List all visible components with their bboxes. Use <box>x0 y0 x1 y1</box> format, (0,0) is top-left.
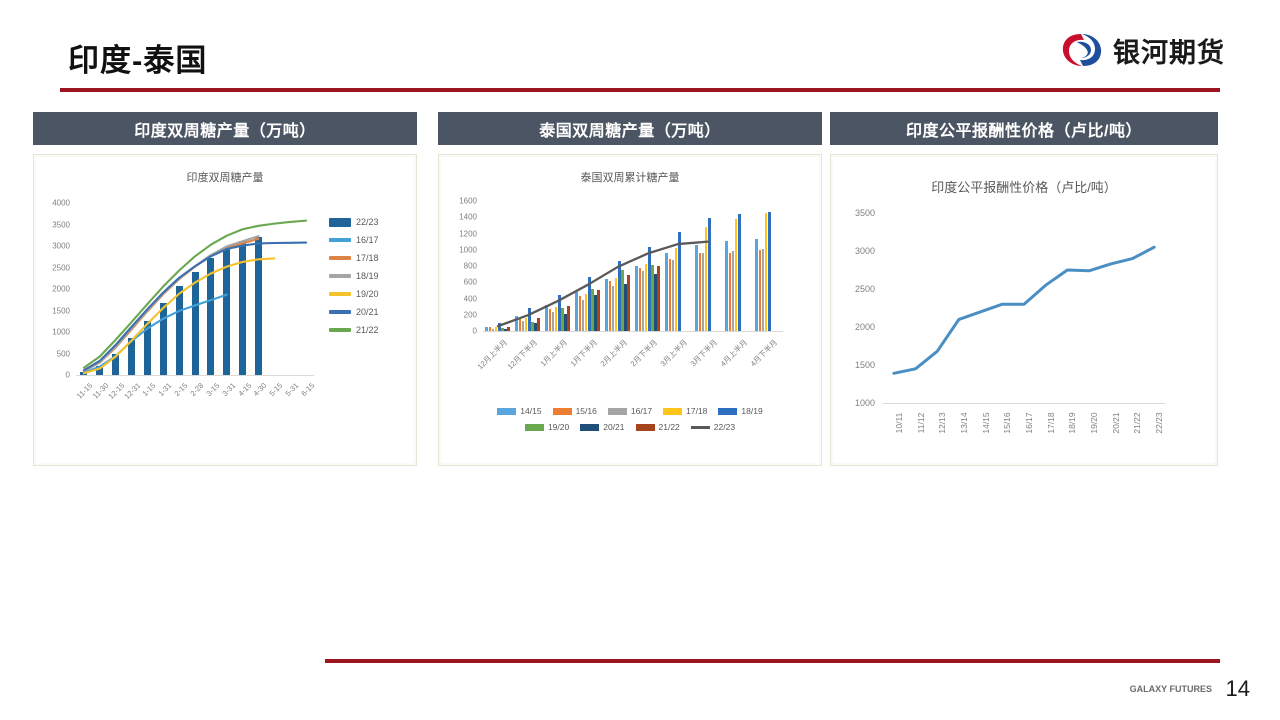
chart-2-legend-item: 21/22 <box>636 422 680 432</box>
chart-1-legend: 22/2316/1717/1818/1919/2020/2121/22 <box>329 217 379 335</box>
chart-1-legend-item: 22/23 <box>329 217 379 227</box>
chart-3-xtick: 22/23 <box>1154 407 1164 439</box>
chart-1-legend-item: 21/22 <box>329 325 379 335</box>
chart-1-legend-item: 18/19 <box>329 271 379 281</box>
legend-swatch <box>663 408 682 415</box>
chart-3-xtick: 21/22 <box>1132 407 1142 439</box>
chart-3-line <box>894 247 1154 373</box>
legend-label: 14/15 <box>520 406 541 416</box>
chart-2-legend-item: 22/23 <box>691 422 735 432</box>
chart-1-line-16-17 <box>84 295 227 373</box>
chart-1-legend-item: 16/17 <box>329 235 379 245</box>
chart-2-legend-row: 14/1515/1616/1717/1818/19 <box>497 406 762 416</box>
panel-india-frp-price: 印度公平报酬性价格（卢比/吨） 印度公平报酬性价格（卢比/吨） 10001500… <box>830 112 1218 466</box>
legend-label: 17/18 <box>356 253 379 263</box>
legend-label: 20/21 <box>356 307 379 317</box>
chart-3-xtick: 15/16 <box>1002 407 1012 439</box>
legend-swatch <box>329 328 351 332</box>
chart-2-legend: 14/1515/1616/1717/1818/1919/2020/2121/22… <box>439 406 821 432</box>
legend-swatch <box>329 292 351 296</box>
chart-2-legend-item: 19/20 <box>525 422 569 432</box>
chart-container-1: 印度双周糖产量 05001000150020002500300035004000… <box>33 154 417 466</box>
legend-label: 19/20 <box>356 289 379 299</box>
legend-label: 19/20 <box>548 422 569 432</box>
chart-1-legend-item: 19/20 <box>329 289 379 299</box>
chart-3-xtick: 16/17 <box>1024 407 1034 439</box>
legend-label: 18/19 <box>356 271 379 281</box>
chart-2-legend-item: 14/15 <box>497 406 541 416</box>
galaxy-swirl-icon <box>1060 30 1104 70</box>
chart-3-xtick: 12/13 <box>937 407 947 439</box>
legend-swatch <box>525 424 544 431</box>
footer-brand: GALAXY FUTURES <box>1130 684 1212 694</box>
legend-swatch <box>329 274 351 278</box>
legend-swatch <box>329 310 351 314</box>
panel-header-3: 印度公平报酬性价格（卢比/吨） <box>830 112 1218 145</box>
logo-text: 银河期货 <box>1113 31 1225 70</box>
legend-label: 22/23 <box>714 422 735 432</box>
chart-container-3: 印度公平报酬性价格（卢比/吨） 100015002000250030003500… <box>830 154 1218 466</box>
chart-2-legend-row: 19/2020/2121/2222/23 <box>525 422 735 432</box>
legend-label: 20/21 <box>603 422 624 432</box>
footer-divider <box>325 659 1220 663</box>
legend-label: 16/17 <box>356 235 379 245</box>
panel-india-sugar-output: 印度双周糖产量（万吨） 印度双周糖产量 05001000150020002500… <box>33 112 417 466</box>
chart-3-xtick: 14/15 <box>981 407 991 439</box>
chart-3-xtick: 13/14 <box>959 407 969 439</box>
chart-3-xtick: 19/20 <box>1089 407 1099 439</box>
chart-2-legend-item: 16/17 <box>608 406 652 416</box>
panel-header-2: 泰国双周糖产量（万吨） <box>438 112 822 145</box>
legend-label: 21/22 <box>659 422 680 432</box>
legend-swatch <box>553 408 572 415</box>
chart-1-line-19-20 <box>84 258 274 373</box>
page-number: 14 <box>1226 676 1250 702</box>
chart-2-legend-item: 20/21 <box>580 422 624 432</box>
legend-label: 22/23 <box>356 217 379 227</box>
legend-label: 17/18 <box>686 406 707 416</box>
legend-swatch <box>497 408 516 415</box>
legend-label: 21/22 <box>356 325 379 335</box>
legend-swatch <box>608 408 627 415</box>
chart-3-xtick: 20/21 <box>1111 407 1121 439</box>
legend-label: 18/19 <box>741 406 762 416</box>
legend-swatch <box>329 256 351 260</box>
chart-1-legend-item: 20/21 <box>329 307 379 317</box>
chart-3-xtick: 17/18 <box>1046 407 1056 439</box>
panel-thailand-sugar-output: 泰国双周糖产量（万吨） 泰国双周累计糖产量 020040060080010001… <box>438 112 822 466</box>
chart-2-legend-item: 18/19 <box>718 406 762 416</box>
chart-container-2: 泰国双周累计糖产量 020040060080010001200140016001… <box>438 154 822 466</box>
panel-header-1: 印度双周糖产量（万吨） <box>33 112 417 145</box>
legend-label: 16/17 <box>631 406 652 416</box>
brand-logo: 银河期货 <box>1060 30 1225 70</box>
chart-2-legend-item: 15/16 <box>553 406 597 416</box>
legend-swatch <box>718 408 737 415</box>
title-divider <box>60 88 1220 92</box>
legend-label: 15/16 <box>576 406 597 416</box>
chart-3-xtick: 11/12 <box>916 407 926 439</box>
slide: 印度-泰国 银河期货 印度双周糖产量（万吨） 印度双周糖产量 050010001… <box>0 0 1280 720</box>
chart-3-plot: 10001500200025003000350010/1111/1212/131… <box>831 155 1217 465</box>
legend-swatch <box>329 218 351 227</box>
legend-swatch <box>636 424 655 431</box>
chart-2-legend-item: 17/18 <box>663 406 707 416</box>
legend-swatch <box>329 238 351 242</box>
chart-1-legend-item: 17/18 <box>329 253 379 263</box>
page-title: 印度-泰国 <box>68 35 207 80</box>
legend-swatch <box>691 426 710 429</box>
chart-3-xtick: 10/11 <box>894 407 904 439</box>
chart-2-line-22-23 <box>498 242 708 327</box>
chart-3-xtick: 18/19 <box>1067 407 1077 439</box>
legend-swatch <box>580 424 599 431</box>
